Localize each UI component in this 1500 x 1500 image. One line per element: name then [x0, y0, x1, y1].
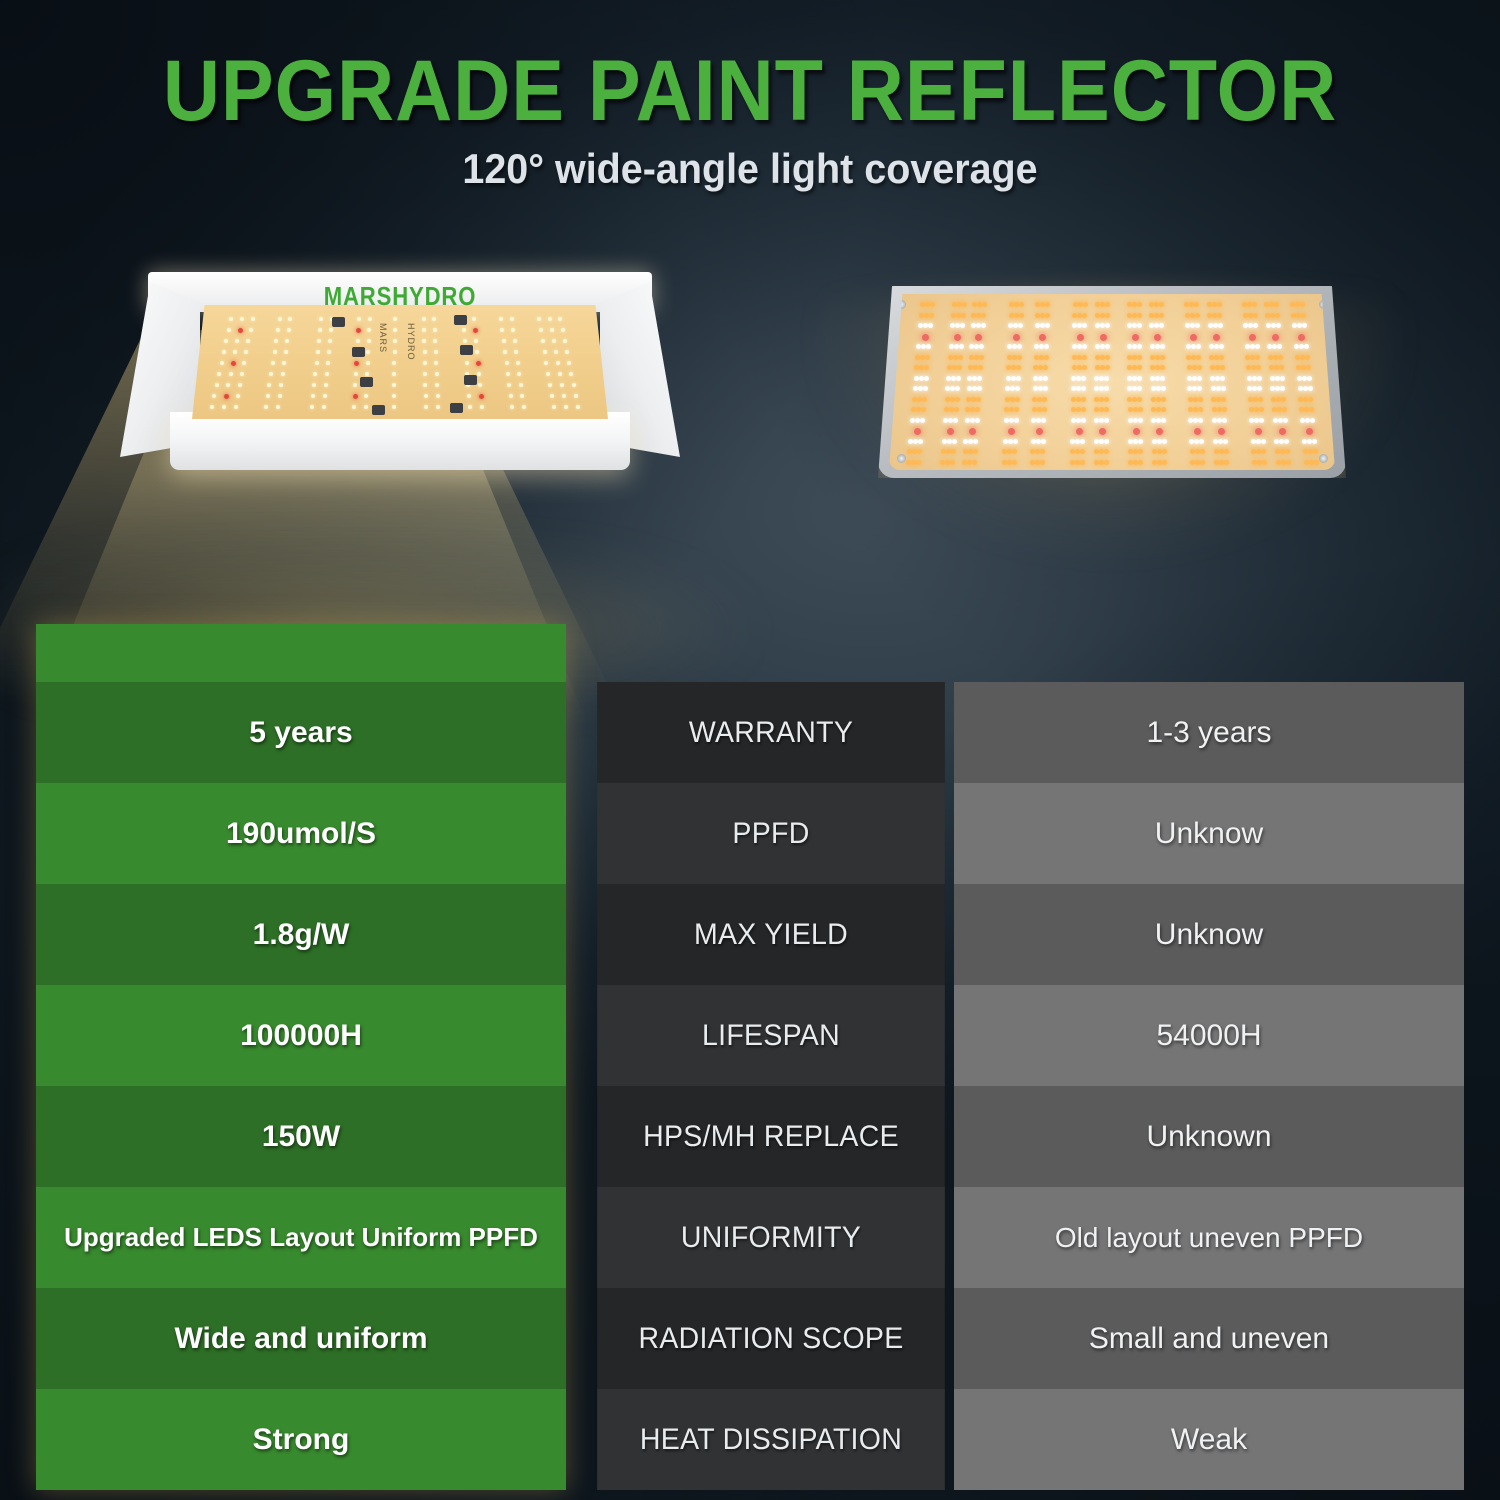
table-cell-ours: Wide and uniform	[36, 1288, 566, 1389]
table-cell-theirs: Unknow	[954, 783, 1464, 884]
table-cell-feature: HPS/MH REPLACE	[597, 1086, 945, 1187]
led-driver-chip	[450, 403, 463, 413]
board-label-hydro: HYDRO	[406, 323, 416, 361]
page-title: UPGRADE PAINT REFLECTOR	[60, 42, 1440, 141]
column-theirs: 1-3 yearsUnknowUnknow54000HUnknownOld la…	[954, 624, 1464, 1490]
column-theirs-header	[954, 624, 1464, 682]
board-label-mars: MARS	[378, 323, 388, 353]
brand-logo-text: MARSHYDRO	[162, 281, 638, 312]
led-driver-chip	[464, 375, 477, 385]
frame-screw	[1319, 454, 1328, 463]
table-cell-feature: PPFD	[597, 783, 945, 884]
table-cell-feature: LIFESPAN	[597, 985, 945, 1086]
frame-screw	[897, 454, 906, 463]
column-ours: 5 years190umol/S1.8g/W100000H150WUpgrade…	[36, 624, 566, 1490]
table-cell-theirs: Small and uneven	[954, 1288, 1464, 1389]
led-dot-grid-right	[889, 294, 1335, 470]
led-driver-chip	[360, 377, 373, 387]
table-cell-ours: 5 years	[36, 682, 566, 783]
comparison-table: 5 years190umol/S1.8g/W100000H150WUpgrade…	[36, 624, 1464, 1490]
page-subtitle: 120° wide-angle light coverage	[45, 145, 1455, 193]
table-cell-feature: WARRANTY	[597, 682, 945, 783]
table-cell-feature: MAX YIELD	[597, 884, 945, 985]
product-comparison-infographic: UPGRADE PAINT REFLECTOR 120° wide-angle …	[0, 0, 1500, 1500]
table-cell-ours: 190umol/S	[36, 783, 566, 884]
led-driver-chip	[372, 405, 385, 415]
table-cell-theirs: 1-3 years	[954, 682, 1464, 783]
table-cell-theirs: Old layout uneven PPFD	[954, 1187, 1464, 1288]
product-image-upgraded-reflector: MARSHYDRO MARS HYDRO	[120, 272, 680, 492]
product-image-old-board	[878, 286, 1346, 478]
table-cell-ours: Strong	[36, 1389, 566, 1490]
led-driver-chip	[454, 315, 467, 325]
led-driver-chip	[460, 345, 473, 355]
table-cell-ours: 150W	[36, 1086, 566, 1187]
table-cell-theirs: Unknow	[954, 884, 1464, 985]
column-feature-labels: WARRANTYPPFDMAX YIELDLIFESPANHPS/MH REPL…	[588, 624, 954, 1490]
table-cell-ours: 1.8g/W	[36, 884, 566, 985]
column-feature-header	[588, 624, 954, 682]
led-board-right	[889, 294, 1335, 470]
table-cell-theirs: Unknown	[954, 1086, 1464, 1187]
led-dot-grid-left	[192, 305, 608, 419]
table-cell-feature: RADIATION SCOPE	[597, 1288, 945, 1389]
table-cell-feature: HEAT DISSIPATION	[597, 1389, 945, 1490]
table-cell-theirs: 54000H	[954, 985, 1464, 1086]
table-cell-theirs: Weak	[954, 1389, 1464, 1490]
led-driver-chip	[332, 317, 345, 327]
led-board-left: MARS HYDRO	[192, 305, 608, 419]
column-ours-header	[36, 624, 566, 682]
table-cell-feature: UNIFORMITY	[597, 1187, 945, 1288]
table-cell-ours: Upgraded LEDS Layout Uniform PPFD	[36, 1187, 566, 1288]
reflector-hood-front	[170, 412, 630, 470]
led-driver-chip	[352, 347, 365, 357]
table-cell-ours: 100000H	[36, 985, 566, 1086]
